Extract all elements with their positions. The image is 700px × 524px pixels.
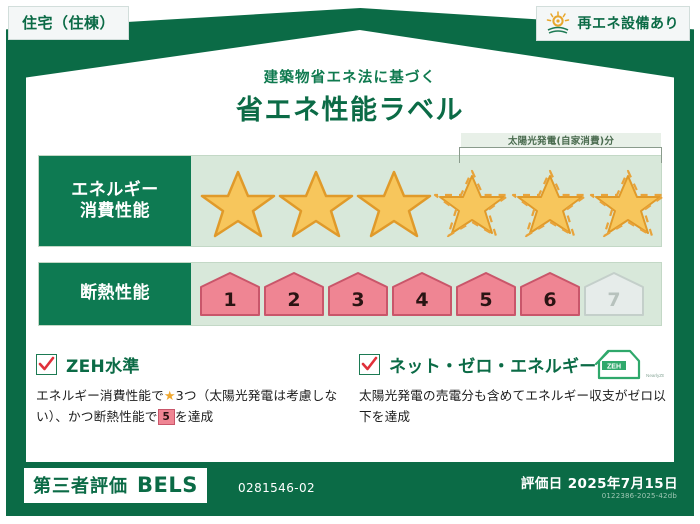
insulation-level-1-label: 1: [223, 289, 236, 317]
evaluation-date-label: 評価日: [521, 476, 563, 492]
label-subtitle: 建築物省エネ法に基づく: [0, 66, 700, 87]
insulation-level-2-label: 2: [287, 289, 300, 317]
star-2: [277, 166, 355, 240]
check-zeh-header: ZEH水準: [36, 352, 343, 377]
label-title: 省エネ性能ラベル: [0, 88, 700, 127]
insulation-levels: 1 2 3 4 5 6: [191, 263, 661, 325]
insulation-level-7: 7: [583, 271, 645, 317]
house-type-label: 住宅（住棟）: [22, 14, 115, 32]
star-row: [199, 162, 655, 244]
insulation-level-4: 4: [391, 271, 453, 317]
bels-energy-label: 住宅（住棟） 再エネ設備あり 建築物省エネ法に基づく 省エネ性能ラベル: [0, 0, 700, 524]
renewable-energy-label: 再エネ設備あり: [578, 13, 680, 33]
energy-category-line1: エネルギー: [71, 180, 159, 201]
evaluation-date: 評価日 2025年7月15日: [521, 472, 678, 492]
insulation-level-3: 3: [327, 271, 389, 317]
insulation-category-label: 断熱性能: [80, 283, 150, 304]
insulation-level-6: 6: [519, 271, 581, 317]
insulation-level-1: 1: [199, 271, 261, 317]
star-6: [589, 166, 667, 240]
insulation-level-3-label: 3: [351, 289, 364, 317]
star-rating-area: 太陽光発電(自家消費)分: [191, 156, 661, 246]
house-type-tab: 住宅（住棟）: [8, 6, 129, 40]
insulation-level-4-label: 4: [415, 289, 428, 317]
label-footer: 第三者評価 BELS 0281546-02 評価日 2025年7月15日 012…: [6, 462, 694, 516]
insulation-level-7-label: 7: [607, 289, 620, 317]
check-net-zero-energy: ネット・ゼロ・エネルギー ZEH NearlyZEH 太陽光発電の売電分も含めて…: [359, 352, 666, 447]
bels-en-label: BELS: [137, 473, 198, 497]
star-5: [511, 166, 589, 240]
energy-category-line2: 消費性能: [80, 201, 150, 222]
star-4: [433, 166, 511, 240]
sun-icon: [545, 11, 571, 35]
bels-plate: 第三者評価 BELS: [24, 468, 207, 503]
check-zeh-body-pre: エネルギー消費性能で: [36, 388, 164, 403]
evaluation-code: 0122386-2025-42db: [602, 492, 677, 500]
bels-jp-label: 第三者評価: [33, 472, 128, 498]
inline-star-icon: ★: [164, 389, 176, 404]
check-zeh-body: エネルギー消費性能で★3つ（太陽光発電は考慮しない）、かつ断熱性能で5を達成: [36, 386, 343, 428]
insulation-level-2: 2: [263, 271, 325, 317]
svg-text:NearlyZEH: NearlyZEH: [646, 373, 664, 378]
check-zeh-standard: ZEH水準 エネルギー消費性能で★3つ（太陽光発電は考慮しない）、かつ断熱性能で…: [36, 352, 343, 447]
zeh-house-logo-icon: ZEH NearlyZEH: [586, 348, 664, 384]
star-3: [355, 166, 433, 240]
insulation-level-6-label: 6: [543, 289, 556, 317]
solar-bracket: [459, 147, 662, 163]
insulation-level-5: 5: [455, 271, 517, 317]
insulation-performance-row: 断熱性能 1 2 3 4 5: [38, 262, 662, 326]
energy-category-box: エネルギー 消費性能: [39, 156, 191, 246]
renewable-energy-badge: 再エネ設備あり: [536, 6, 691, 41]
check-zeh-body-post: を達成: [175, 409, 213, 424]
solar-caption: 太陽光発電(自家消費)分: [461, 133, 661, 147]
insulation-category-box: 断熱性能: [39, 263, 191, 325]
svg-text:ZEH: ZEH: [607, 363, 621, 370]
inline-level-chip: 5: [158, 409, 175, 425]
check-zeh-title: ZEH水準: [66, 352, 140, 377]
check-nze-body: 太陽光発電の売電分も含めてエネルギー収支がゼロ以下を達成: [359, 386, 666, 428]
check-nze-title: ネット・ゼロ・エネルギー: [389, 352, 597, 377]
evaluation-date-value: 2025年7月15日: [568, 476, 678, 492]
bels-certificate-number: 0281546-02: [238, 481, 315, 495]
checkbox-net-zero[interactable]: [359, 354, 380, 375]
energy-performance-row: エネルギー 消費性能 太陽光発電(自家消費)分: [38, 155, 662, 247]
certification-checks: ZEH水準 エネルギー消費性能で★3つ（太陽光発電は考慮しない）、かつ断熱性能で…: [36, 352, 666, 447]
star-1: [199, 166, 277, 240]
checkbox-zeh[interactable]: [36, 354, 57, 375]
insulation-level-5-label: 5: [479, 289, 492, 317]
